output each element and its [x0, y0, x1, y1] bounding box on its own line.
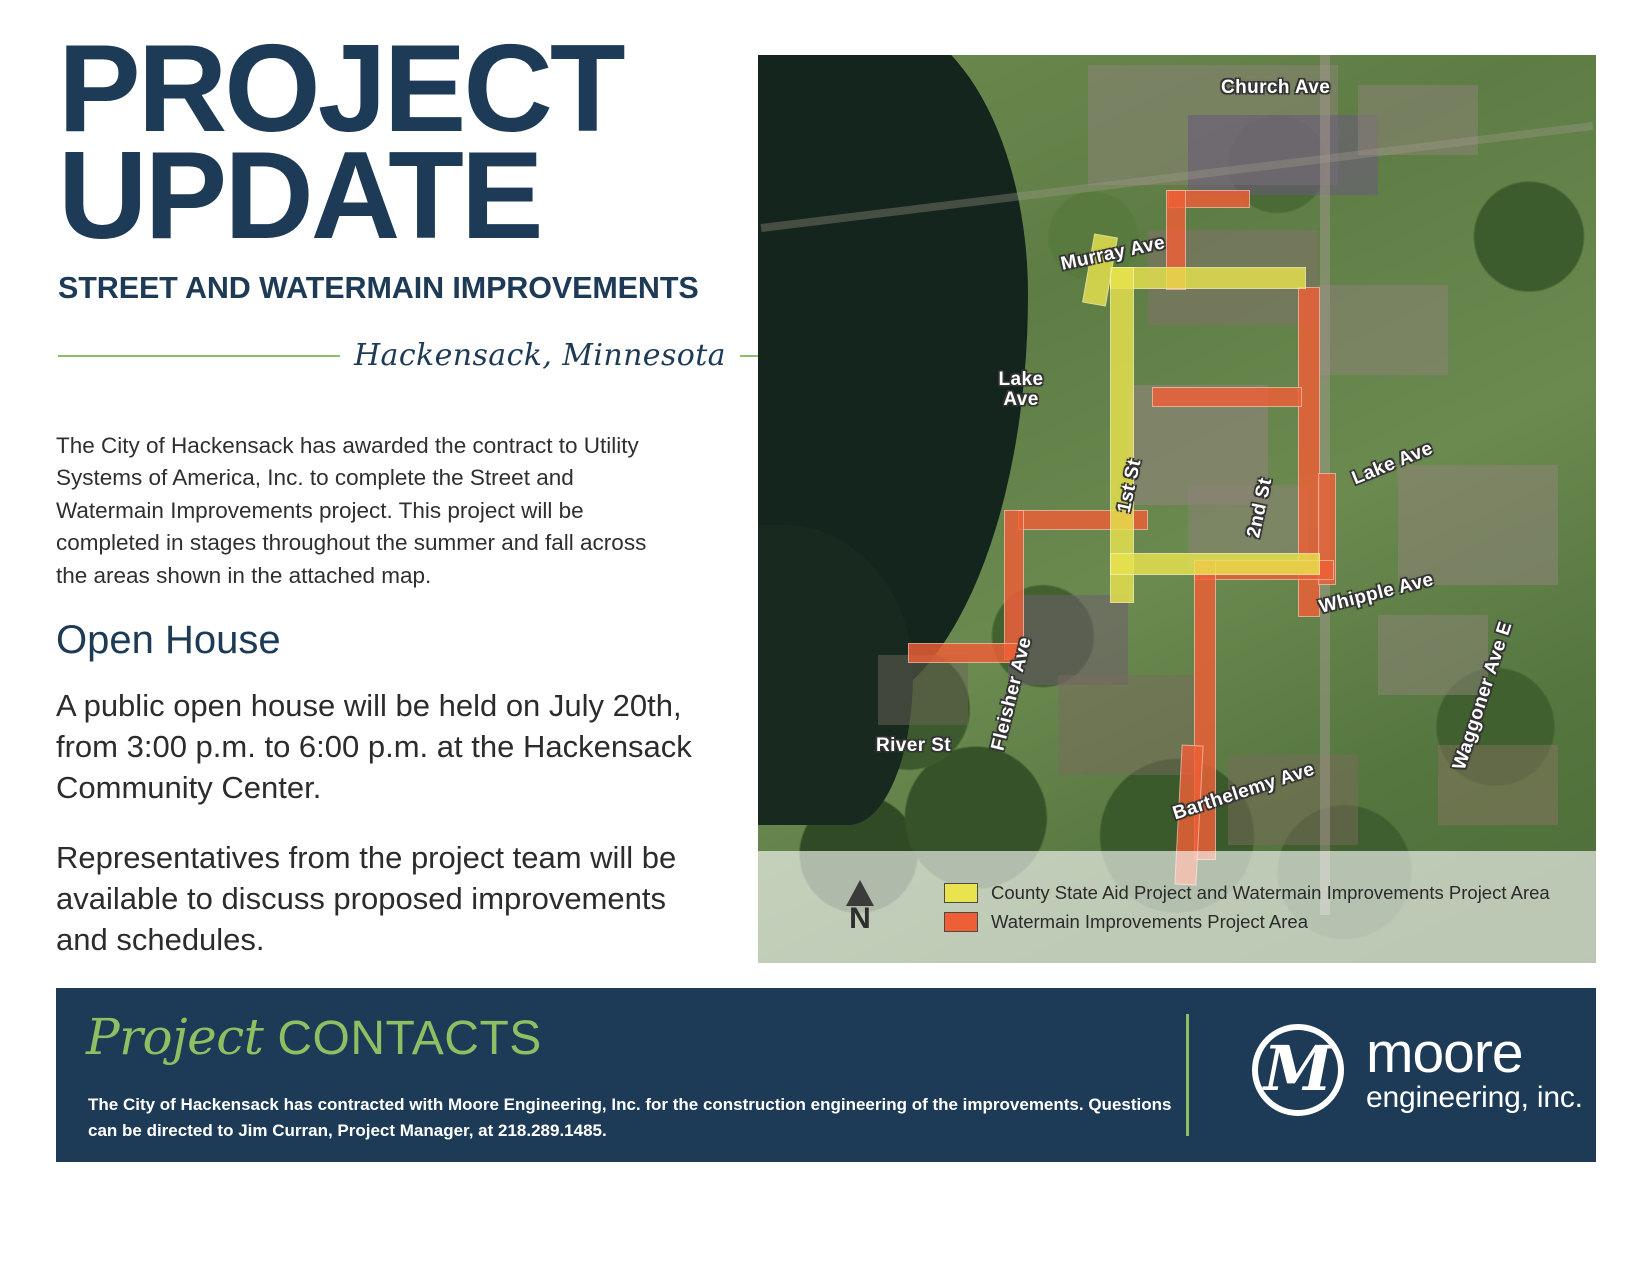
watermain-segment: [908, 643, 1020, 663]
map-parcel: [1058, 675, 1198, 775]
footer-contact-note: The City of Hackensack has contracted wi…: [88, 1092, 1178, 1144]
project-update-flyer: PROJECT UPDATE STREET AND WATERMAIN IMPR…: [0, 0, 1650, 1275]
moore-logo-mark-icon: M: [1252, 1024, 1344, 1116]
street-label-church-ave: Church Ave: [1221, 77, 1330, 99]
legend-swatch-yellow: [944, 883, 978, 903]
watermain-segment: [1152, 387, 1302, 407]
open-house-paragraph-2: Representatives from the project team wi…: [56, 838, 716, 961]
moore-logo-name: moore: [1366, 1026, 1583, 1080]
footer-heading-script: Project: [86, 1008, 263, 1066]
project-area-map[interactable]: Church Ave Murray Ave Lake Ave 1st St 2n…: [758, 55, 1596, 963]
open-house-paragraph-1: A public open house will be held on July…: [56, 686, 696, 809]
north-arrow-indicator: N: [800, 880, 920, 934]
map-imagery: Church Ave Murray Ave Lake Ave 1st St 2n…: [758, 55, 1596, 963]
map-parcel: [1318, 285, 1448, 375]
open-house-heading: Open House: [56, 618, 281, 663]
moore-logo-letter: M: [1264, 1038, 1333, 1100]
legend-label: Watermain Improvements Project Area: [991, 911, 1308, 933]
street-label-river-st: River St: [876, 735, 951, 757]
legend-items: County State Aid Project and Watermain I…: [944, 875, 1550, 940]
title-block: PROJECT UPDATE STREET AND WATERMAIN IMPR…: [58, 36, 758, 306]
legend-swatch-orange: [944, 912, 978, 932]
page-title-line-2: UPDATE: [58, 143, 758, 250]
moore-logo-wordmark: moore engineering, inc.: [1366, 1026, 1583, 1113]
map-parcel: [1378, 615, 1488, 695]
footer-divider: [1186, 1014, 1189, 1136]
street-label-lake-ave-west: Lake Ave: [990, 370, 1052, 410]
legend-row: County State Aid Project and Watermain I…: [944, 882, 1550, 904]
legend-row: Watermain Improvements Project Area: [944, 911, 1550, 933]
footer-contacts-bar: Project CONTACTS The City of Hackensack …: [56, 988, 1596, 1162]
north-label: N: [849, 904, 871, 934]
page-subtitle: STREET AND WATERMAIN IMPROVEMENTS: [58, 271, 758, 306]
location-name: Hackensack, Minnesota: [354, 338, 726, 373]
county-state-aid-segment: [1110, 553, 1320, 575]
rule-left: [58, 355, 340, 357]
location-row: Hackensack, Minnesota: [58, 338, 736, 373]
map-parcel: [1398, 465, 1558, 585]
intro-paragraph: The City of Hackensack has awarded the c…: [56, 430, 676, 592]
left-content-column: PROJECT UPDATE STREET AND WATERMAIN IMPR…: [0, 0, 760, 985]
moore-logo-tagline: engineering, inc.: [1366, 1081, 1583, 1114]
map-legend: N County State Aid Project and Watermain…: [758, 851, 1596, 963]
footer-heading: Project CONTACTS: [86, 1008, 542, 1066]
county-state-aid-segment: [1110, 267, 1306, 289]
map-parcel: [878, 655, 968, 725]
legend-label: County State Aid Project and Watermain I…: [991, 882, 1550, 904]
footer-heading-caps: CONTACTS: [277, 1011, 541, 1066]
moore-engineering-logo: M moore engineering, inc.: [1252, 1024, 1583, 1116]
